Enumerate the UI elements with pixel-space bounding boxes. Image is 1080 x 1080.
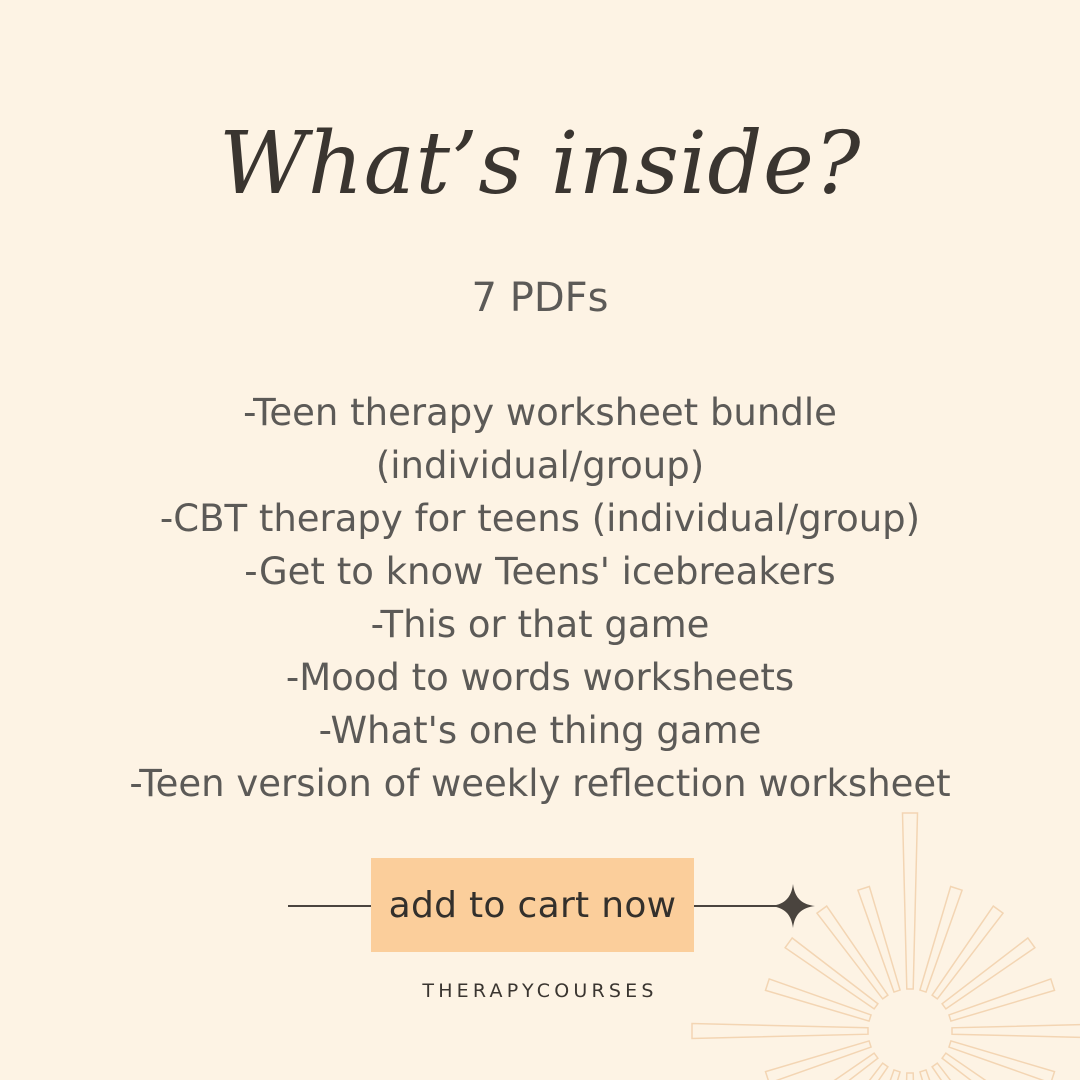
list-item: -Get to know Teens' icebreakers [0, 545, 1080, 598]
list-item: -This or that game [0, 598, 1080, 651]
cta-row: add to cart now [0, 858, 1080, 954]
list-item: -Mood to words worksheets [0, 651, 1080, 704]
list-item: -Teen therapy worksheet bundle [0, 386, 1080, 439]
feature-list: -Teen therapy worksheet bundle (individu… [0, 386, 1080, 810]
list-item: -Teen version of weekly reflection works… [0, 757, 1080, 810]
four-point-star-icon [770, 883, 816, 929]
pdf-count-label: 7 PDFs [0, 276, 1080, 320]
page-title: What’s inside? [0, 118, 1080, 211]
brand-wordmark: THERAPYCOURSES [0, 980, 1080, 1002]
add-to-cart-button[interactable]: add to cart now [371, 858, 694, 952]
divider-line-left [288, 905, 372, 907]
list-item: -CBT therapy for teens (individual/group… [0, 492, 1080, 545]
list-item: -What's one thing game [0, 704, 1080, 757]
promo-card: What’s inside? 7 PDFs -Teen therapy work… [0, 0, 1080, 1080]
list-item: (individual/group) [0, 439, 1080, 492]
